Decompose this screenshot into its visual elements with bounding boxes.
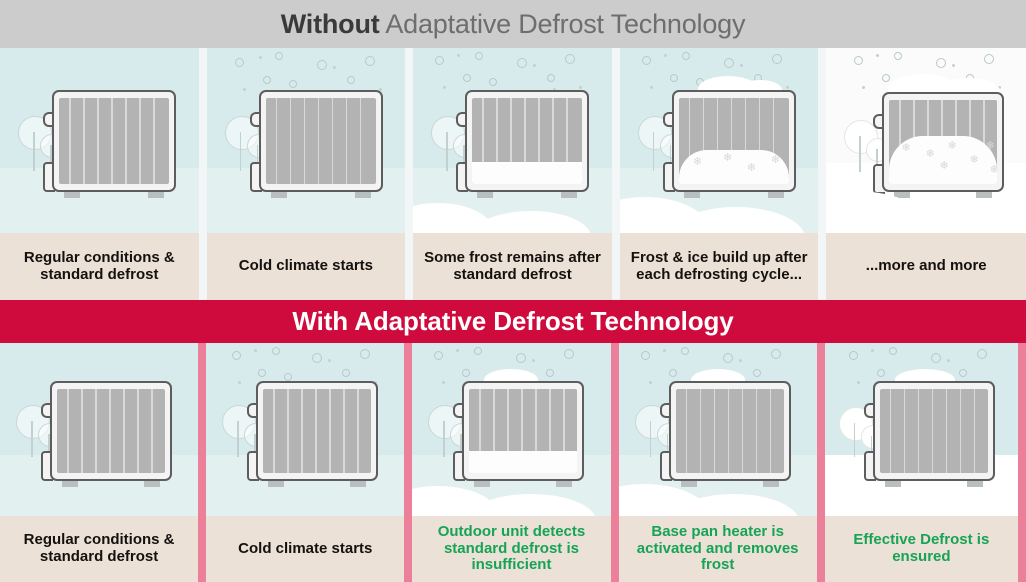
scene-cold-climate-starts-adt xyxy=(206,343,404,516)
outdoor-unit-illustration xyxy=(873,381,995,481)
scene-cold-climate-starts xyxy=(207,48,406,233)
scene-some-frost-remains xyxy=(413,48,612,233)
panel-more-and-more: ❄ ❄ ❄ ❄ ❄ ❄ ❄ ...more and more xyxy=(826,48,1026,300)
header-with-text: With Adaptative Defrost Technology xyxy=(292,306,733,337)
outdoor-unit-illustration xyxy=(465,90,589,192)
caption-text: Outdoor unit detects standard defrost is… xyxy=(418,524,604,574)
panel-base-pan-heater: Base pan heater is activated and removes… xyxy=(619,343,817,582)
outdoor-unit-illustration xyxy=(462,381,584,481)
divider-top-1 xyxy=(199,48,207,300)
snowflake-icon: ❄ xyxy=(925,149,934,160)
snowflake-icon: ❄ xyxy=(989,165,997,176)
caption-text: Regular conditions & standard defrost xyxy=(6,532,192,566)
panel-outdoor-unit-detects: Outdoor unit detects standard defrost is… xyxy=(412,343,610,582)
caption-effective-defrost: Effective Defrost is ensured xyxy=(825,516,1018,582)
panel-effective-defrost: Effective Defrost is ensured xyxy=(825,343,1018,582)
caption-text: Effective Defrost is ensured xyxy=(831,532,1012,566)
outdoor-unit-illustration xyxy=(256,381,378,481)
snowflake-icon: ❄ xyxy=(939,161,948,172)
divider-top-2 xyxy=(405,48,413,300)
header-without-text: Without Adaptative Defrost Technology xyxy=(281,9,746,40)
scene-base-pan-heater xyxy=(619,343,817,516)
caption-base-pan-heater: Base pan heater is activated and removes… xyxy=(619,516,817,582)
divider-bottom-3 xyxy=(611,343,619,582)
caption-more-and-more: ...more and more xyxy=(826,233,1026,300)
outdoor-unit-illustration xyxy=(259,90,383,192)
row-with-adt: Regular conditions & standard defrost xyxy=(0,343,1026,582)
snowflake-icon: ❄ xyxy=(969,155,978,166)
outdoor-unit-illustration: ❄ ❄ ❄ ❄ xyxy=(672,90,796,192)
caption-text: Cold climate starts xyxy=(238,541,372,558)
scene-regular-conditions xyxy=(0,48,199,233)
header-without-rest: Adaptative Defrost Technology xyxy=(380,9,746,39)
frost-buildup xyxy=(469,451,577,473)
snowflake-icon: ❄ xyxy=(723,153,732,164)
outdoor-unit-illustration xyxy=(52,90,176,192)
caption-frost-ice-build-up: Frost & ice build up after each defrosti… xyxy=(620,233,819,300)
caption-regular-conditions: Regular conditions & standard defrost xyxy=(0,233,199,300)
snowflake-icon: ❄ xyxy=(771,155,780,166)
infographic-root: Without Adaptative Defrost Technology xyxy=(0,0,1026,582)
outdoor-unit-illustration xyxy=(669,381,791,481)
row-without-adt: Regular conditions & standard defrost xyxy=(0,48,1026,300)
divider-top-4 xyxy=(818,48,826,300)
snowflake-icon: ❄ xyxy=(901,143,910,154)
panel-some-frost-remains: Some frost remains after standard defros… xyxy=(413,48,612,300)
panel-cold-climate-starts-adt: Cold climate starts xyxy=(206,343,404,582)
scene-effective-defrost xyxy=(825,343,1018,516)
snowflake-icon: ❄ xyxy=(947,141,956,152)
caption-outdoor-unit-detects: Outdoor unit detects standard defrost is… xyxy=(412,516,610,582)
divider-bottom-right-edge xyxy=(1018,343,1026,582)
divider-bottom-1 xyxy=(198,343,206,582)
frost-buildup xyxy=(472,162,582,184)
caption-cold-climate-starts-adt: Cold climate starts xyxy=(206,516,404,582)
caption-text: ...more and more xyxy=(866,258,987,275)
header-with-adt: With Adaptative Defrost Technology xyxy=(0,300,1026,343)
panel-regular-conditions-adt: Regular conditions & standard defrost xyxy=(0,343,198,582)
caption-text: Frost & ice build up after each defrosti… xyxy=(626,250,813,284)
outdoor-unit-illustration xyxy=(50,381,172,481)
caption-text: Cold climate starts xyxy=(239,258,373,275)
snowflake-icon: ❄ xyxy=(693,157,702,168)
divider-bottom-4 xyxy=(817,343,825,582)
header-without-adt: Without Adaptative Defrost Technology xyxy=(0,0,1026,48)
panel-cold-climate-starts: Cold climate starts xyxy=(207,48,406,300)
scene-more-and-more: ❄ ❄ ❄ ❄ ❄ ❄ ❄ xyxy=(826,48,1026,233)
scene-regular-conditions-adt xyxy=(0,343,198,516)
divider-bottom-2 xyxy=(404,343,412,582)
scene-outdoor-unit-detects xyxy=(412,343,610,516)
outdoor-unit-illustration: ❄ ❄ ❄ ❄ ❄ ❄ ❄ xyxy=(882,92,1004,192)
scene-frost-ice-build-up: ❄ ❄ ❄ ❄ xyxy=(620,48,819,233)
snowflake-icon: ❄ xyxy=(985,141,994,152)
panel-frost-ice-build-up: ❄ ❄ ❄ ❄ Frost & ice build up after each … xyxy=(620,48,819,300)
caption-cold-climate-starts: Cold climate starts xyxy=(207,233,406,300)
caption-text: Base pan heater is activated and removes… xyxy=(625,524,811,574)
caption-text: Some frost remains after standard defros… xyxy=(419,250,606,284)
divider-top-3 xyxy=(612,48,620,300)
caption-text: Regular conditions & standard defrost xyxy=(6,250,193,284)
panel-regular-conditions: Regular conditions & standard defrost xyxy=(0,48,199,300)
snowflake-icon: ❄ xyxy=(747,163,756,174)
caption-some-frost-remains: Some frost remains after standard defros… xyxy=(413,233,612,300)
header-without-strong: Without xyxy=(281,9,380,39)
caption-regular-conditions-adt: Regular conditions & standard defrost xyxy=(0,516,198,582)
